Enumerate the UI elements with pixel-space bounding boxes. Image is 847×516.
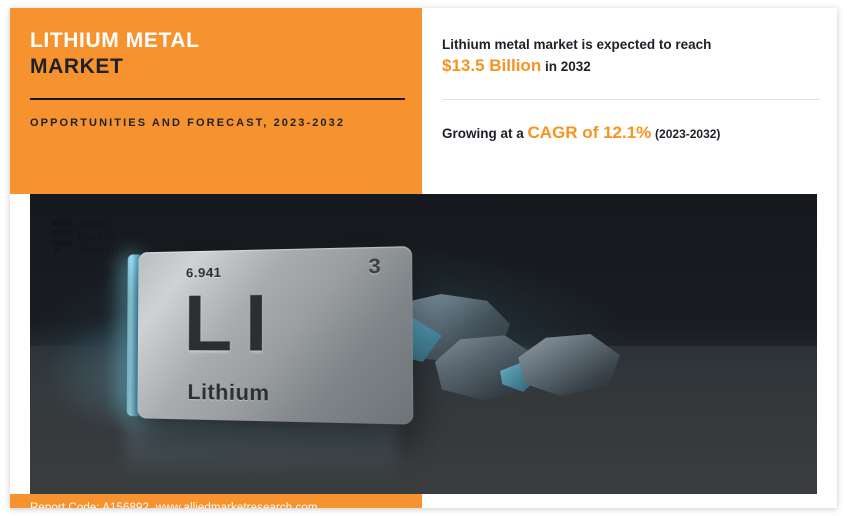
stats-divider [442,99,820,100]
lithium-element-card: 6.941 3 LI Lithium [137,246,413,425]
report-card: LITHIUM METAL MARKET OPPORTUNITIES AND F… [10,8,837,508]
title-divider [30,98,405,100]
cagr-value: CAGR of 12.1% [528,123,652,142]
page-title-line1: LITHIUM METAL [30,28,404,54]
watermark-line1: Allied [78,218,129,231]
page-title-line2: MARKET [30,54,404,80]
forecast-value: $13.5 Billion [442,56,541,75]
page-subtitle: OPPORTUNITIES AND FORECAST, 2023-2032 [30,114,360,132]
speech-bubble-icon [52,218,74,250]
report-code-text: Report Code: A156892, www.alliedmarketre… [30,502,318,508]
cagr-statement: Growing at a CAGR of 12.1% (2023-2032) [442,122,815,145]
hero-image: Allied Market Research 6.941 3 LI Lithiu… [30,194,817,494]
cagr-period: (2023-2032) [655,127,720,141]
element-atomic-number: 3 [368,255,380,280]
watermark-line2: Market [78,231,129,244]
footer-bar: Report Code: A156892, www.alliedmarketre… [10,494,422,508]
header-row: LITHIUM METAL MARKET OPPORTUNITIES AND F… [10,8,837,194]
title-panel: LITHIUM METAL MARKET OPPORTUNITIES AND F… [10,8,422,194]
card-reflection [126,416,396,478]
stats-panel: Lithium metal market is expected to reac… [422,8,837,194]
watermark-text: Allied Market Research [78,218,129,257]
cagr-prefix: Growing at a [442,126,524,141]
element-name: Lithium [187,381,269,407]
watermark-line3: Research [78,244,129,257]
element-symbol: LI [184,282,281,363]
forecast-statement: Lithium metal market is expected to reac… [442,34,815,77]
forecast-suffix: in 2032 [545,59,591,74]
forecast-prefix: Lithium metal market is expected to reac… [442,37,711,52]
